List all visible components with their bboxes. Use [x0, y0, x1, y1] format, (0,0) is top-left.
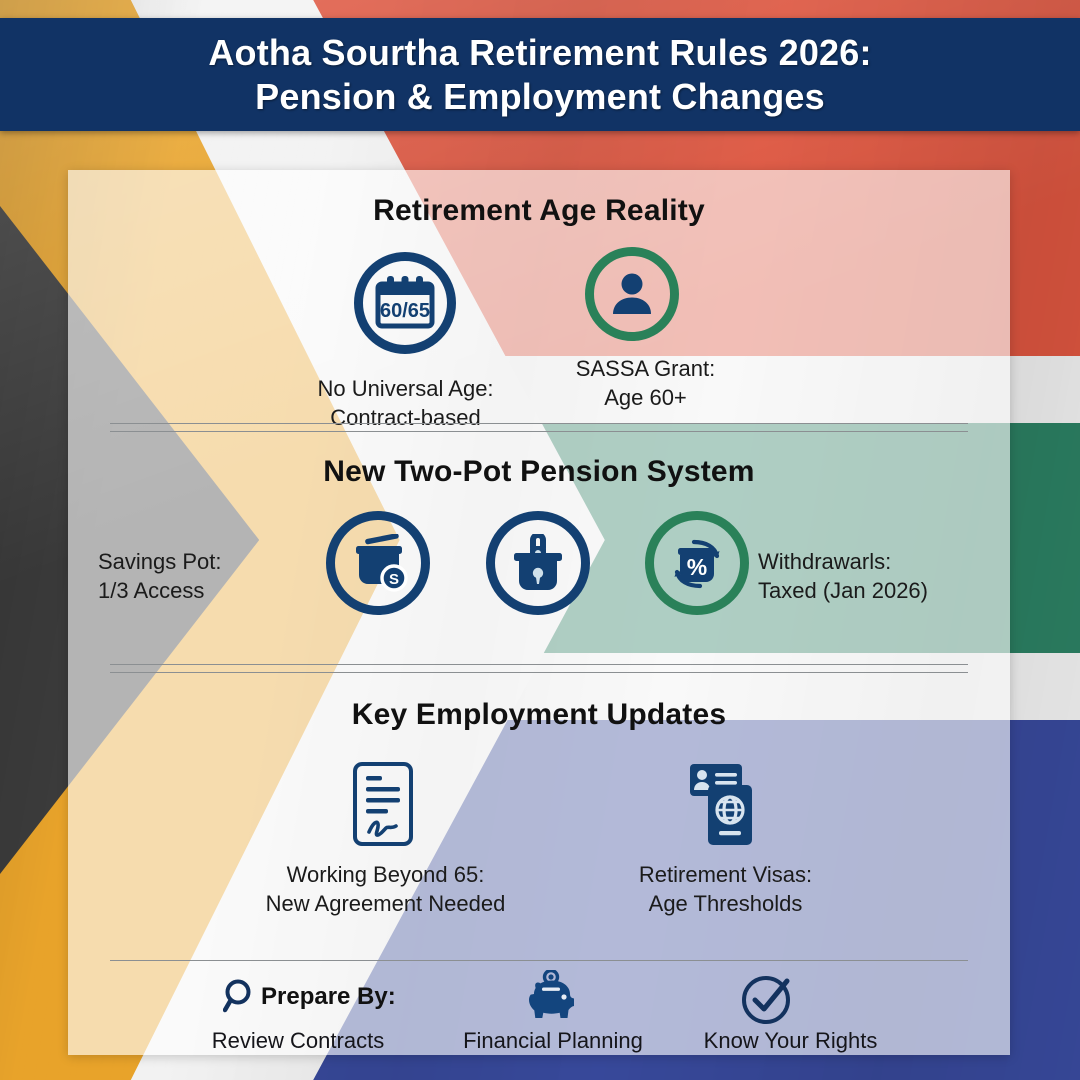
- content-panel: Retirement Age Reality 60/65: [68, 170, 1010, 1055]
- person-icon-ring: [585, 247, 679, 341]
- divider-3: [110, 960, 968, 969]
- passport-id-icon: [688, 760, 756, 848]
- page-title-line-2: Pension & Employment Changes: [208, 75, 871, 119]
- section-key-employment-updates: Key Employment Updates: [68, 698, 1010, 958]
- section-3-caption-left: Working Beyond 65: New Agreement Needed: [238, 860, 533, 918]
- section-retirement-age-reality: Retirement Age Reality 60/65: [68, 194, 1010, 454]
- section-2-heading: New Two-Pot Pension System: [68, 455, 1010, 489]
- signed-document-icon: [351, 760, 415, 848]
- divider-1-line-bottom: [110, 431, 968, 432]
- calendar-6065-icon: 60/65: [374, 275, 436, 331]
- divider-3-line-top: [110, 960, 968, 961]
- check-circle-icon: [740, 972, 794, 1026]
- pot-percent-arrows-icon-ring: %: [645, 511, 749, 615]
- footer-label-financial-planning: Financial Planning: [423, 1028, 683, 1054]
- footer-label-review-contracts: Review Contracts: [178, 1028, 418, 1054]
- page-title: Aotha Sourtha Retirement Rules 2026: Pen…: [208, 31, 871, 119]
- savings-pot-dollar-icon: S: [347, 534, 409, 592]
- footer-label-know-your-rights: Know Your Rights: [658, 1028, 923, 1054]
- locked-pot-icon-ring: [486, 511, 590, 615]
- title-banner: Aotha Sourtha Retirement Rules 2026: Pen…: [0, 18, 1080, 131]
- divider-2: [110, 664, 968, 673]
- infographic-canvas: Aotha Sourtha Retirement Rules 2026: Pen…: [0, 0, 1080, 1080]
- prepare-by-label: Prepare By:: [261, 983, 396, 1011]
- section-3-heading: Key Employment Updates: [68, 698, 1010, 732]
- footer-prepare-by: Prepare By: Review: [68, 970, 1010, 1055]
- svg-text:S: S: [389, 571, 399, 588]
- page-title-line-1: Aotha Sourtha Retirement Rules 2026:: [208, 31, 871, 75]
- section-3-caption-right: Retirement Visas: Age Thresholds: [578, 860, 873, 918]
- svg-text:%: %: [687, 554, 707, 580]
- divider-2-line-top: [110, 664, 968, 665]
- divider-2-line-bottom: [110, 672, 968, 673]
- prepare-by-group: Prepare By:: [223, 978, 396, 1016]
- calendar-6065-icon-ring: 60/65: [354, 252, 456, 354]
- section-2-caption-right: Withdrawarls: Taxed (Jan 2026): [758, 547, 1003, 605]
- section-1-caption-right: SASSA Grant: Age 60+: [513, 354, 778, 412]
- section-2-caption-left: Savings Pot: 1/3 Access: [98, 547, 318, 605]
- piggy-bank-icon: [520, 970, 582, 1026]
- divider-1: [110, 423, 968, 432]
- section-two-pot-pension: New Two-Pot Pension System S: [68, 455, 1010, 715]
- savings-pot-dollar-icon-ring: S: [326, 511, 430, 615]
- locked-pot-icon: [508, 534, 568, 592]
- magnifier-icon: [223, 978, 257, 1016]
- divider-1-line-top: [110, 423, 968, 424]
- section-1-heading: Retirement Age Reality: [68, 194, 1010, 228]
- svg-text:60/65: 60/65: [380, 300, 430, 322]
- person-icon: [606, 268, 658, 320]
- pot-percent-arrows-icon: %: [664, 533, 730, 593]
